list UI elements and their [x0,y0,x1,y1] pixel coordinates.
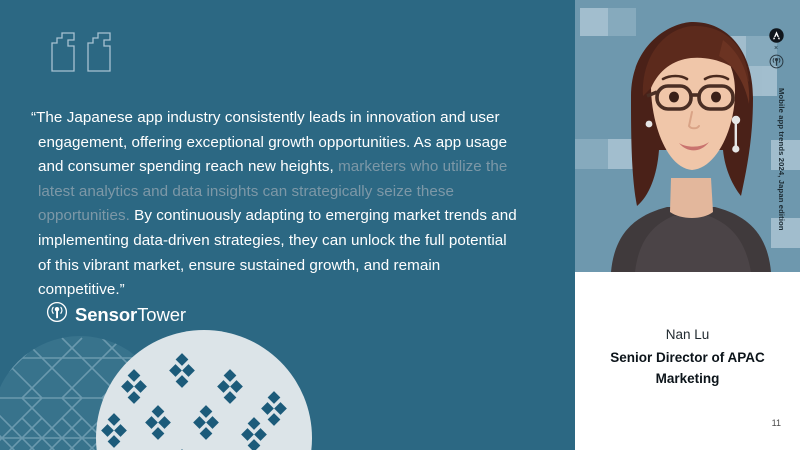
quote-mark-icon [48,30,114,75]
page-number: 11 [772,418,781,428]
sensor-tower-signal-icon [769,54,784,69]
quote-text: “The Japanese app industry consistently … [38,106,518,303]
sensor-tower-logo[interactable]: SensorTower [46,301,186,328]
logo-word-bold: Sensor [75,304,137,325]
slide-canvas: “The Japanese app industry consistently … [0,0,800,450]
sensor-tower-signal-icon [46,301,68,328]
quote-panel: “The Japanese app industry consistently … [0,0,575,450]
speaker-panel: × Mobile app trends 2024, Japan edition … [575,0,800,450]
decorative-diamond-circle [96,330,312,450]
logo-word-light: Tower [137,304,186,325]
appsflyer-logo-icon [769,28,784,43]
speaker-name: Nan Lu [575,325,800,345]
lockup-separator: × [774,45,778,53]
brand-lockup: × [765,28,787,69]
report-edition-caption: Mobile app trends 2024, Japan edition [777,88,786,231]
sensor-tower-wordmark: SensorTower [75,304,186,326]
speaker-portrait-photo: × Mobile app trends 2024, Japan edition [575,0,800,272]
speaker-title: Senior Director of APAC Marketing [575,345,800,389]
speaker-info: Nan Lu Senior Director of APAC Marketing [575,325,800,389]
